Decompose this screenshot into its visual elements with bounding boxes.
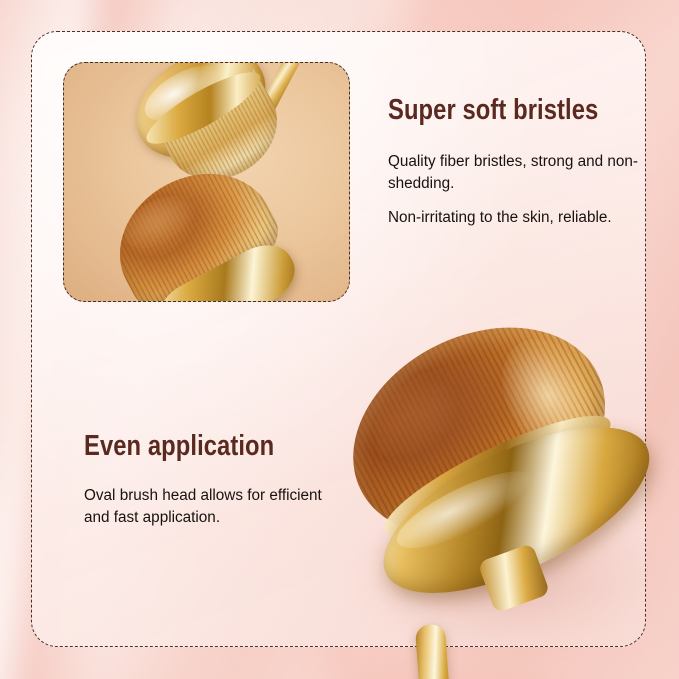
feature-block-even-application: Even application Oval brush head allows … bbox=[84, 430, 346, 528]
feature-paragraph: Non-irritating to the skin, reliable. bbox=[388, 207, 640, 229]
feature-heading-super-soft-bristles: Super soft bristles bbox=[388, 94, 595, 127]
feature-block-super-soft-bristles: Super soft bristles Quality fiber bristl… bbox=[388, 94, 640, 229]
feature-body-super-soft-bristles: Quality fiber bristles, strong and non-s… bbox=[388, 151, 640, 229]
feature-heading-even-application: Even application bbox=[84, 430, 299, 463]
hero-brush-handle bbox=[415, 624, 459, 679]
feature-paragraph: Quality fiber bristles, strong and non-s… bbox=[388, 151, 640, 194]
product-feature-image: Super soft bristles Quality fiber bristl… bbox=[0, 0, 679, 679]
feature-body-even-application: Oval brush head allows for efficient and… bbox=[84, 485, 346, 528]
feature-paragraph: Oval brush head allows for efficient and… bbox=[84, 485, 346, 528]
inset-photo-panel bbox=[63, 62, 350, 302]
hero-brush-photo bbox=[330, 296, 679, 679]
